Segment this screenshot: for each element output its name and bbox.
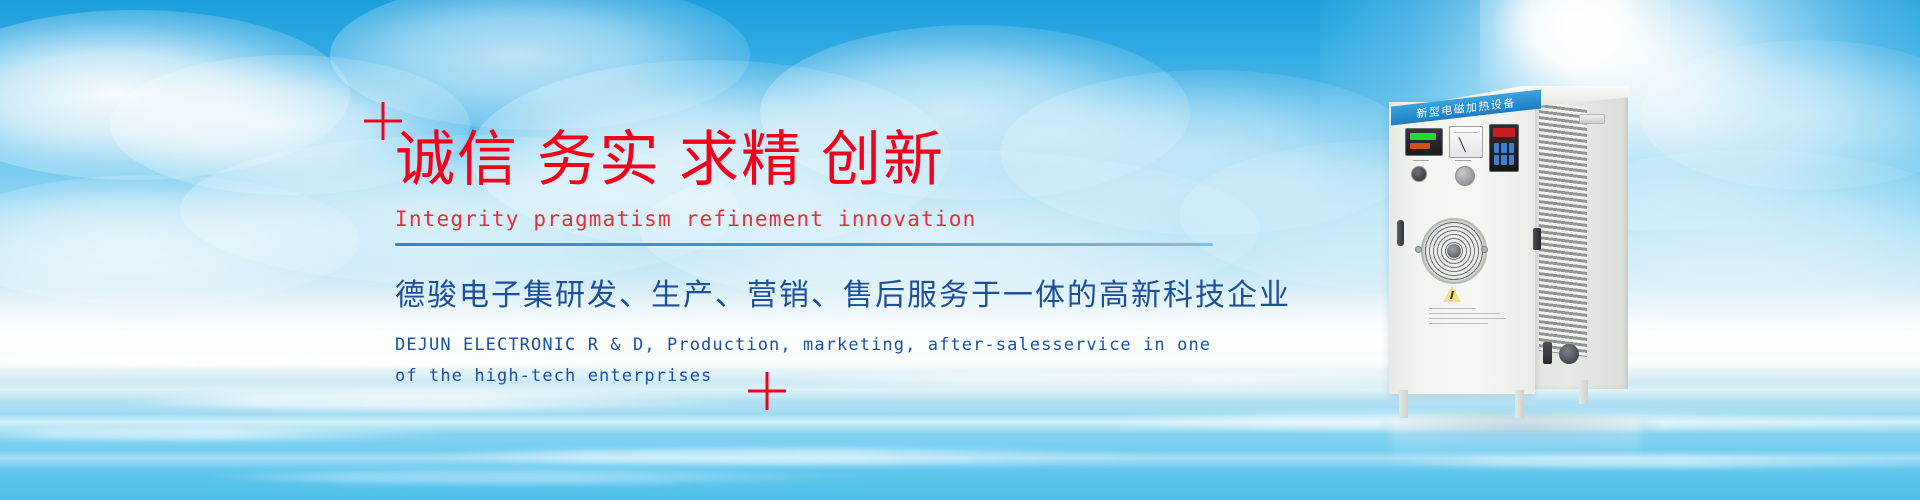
panel-label-line	[1413, 160, 1429, 161]
company-description-english: DEJUN ELECTRONIC R & D, Production, mark…	[395, 330, 1235, 393]
machine-door-handle	[1397, 220, 1404, 246]
headline-english-tagline: Integrity pragmatism refinement innovati…	[395, 207, 1235, 231]
product-machine-image: 新型电磁加热设备	[1383, 70, 1645, 422]
control-knob-icon	[1455, 166, 1475, 186]
cooling-fan-grille-icon	[1421, 218, 1487, 284]
company-description-chinese: 德骏电子集研发、生产、营销、售后服务于一体的高新科技企业	[395, 270, 1235, 314]
company-description-english-line1: DEJUN ELECTRONIC R & D, Production, mark…	[395, 330, 1235, 361]
fan-bolt	[1481, 246, 1488, 253]
control-knob-icon	[1411, 166, 1427, 182]
digital-display-icon	[1405, 128, 1443, 156]
divider-rule	[395, 243, 1213, 246]
panel-label-line	[1455, 160, 1471, 161]
machine-spec-label	[1429, 308, 1513, 328]
banner-text-block: 诚信务实求精创新 Integrity pragmatism refinement…	[395, 128, 1235, 393]
machine-side-port	[1543, 342, 1552, 364]
headline-word-2: 务实	[537, 125, 661, 195]
control-keypad-icon	[1489, 124, 1519, 172]
fan-bolt	[1415, 246, 1422, 253]
headline-word-4: 创新	[821, 125, 945, 195]
machine-side-latch	[1533, 228, 1541, 250]
headline-word-3: 求精	[679, 125, 803, 195]
machine-side-outlet	[1559, 344, 1579, 364]
company-description-english-line2: of the high-tech enterprises	[395, 361, 1235, 392]
warning-triangle-icon	[1443, 286, 1461, 302]
machine-vent-louvres	[1539, 101, 1587, 357]
analog-gauge-icon	[1449, 126, 1483, 158]
machine-top-tab	[1579, 114, 1605, 124]
headline-word-1: 诚信	[395, 125, 519, 195]
page-title: 诚信务实求精创新	[395, 128, 1235, 193]
promotional-banner: 诚信务实求精创新 Integrity pragmatism refinement…	[0, 0, 1920, 500]
